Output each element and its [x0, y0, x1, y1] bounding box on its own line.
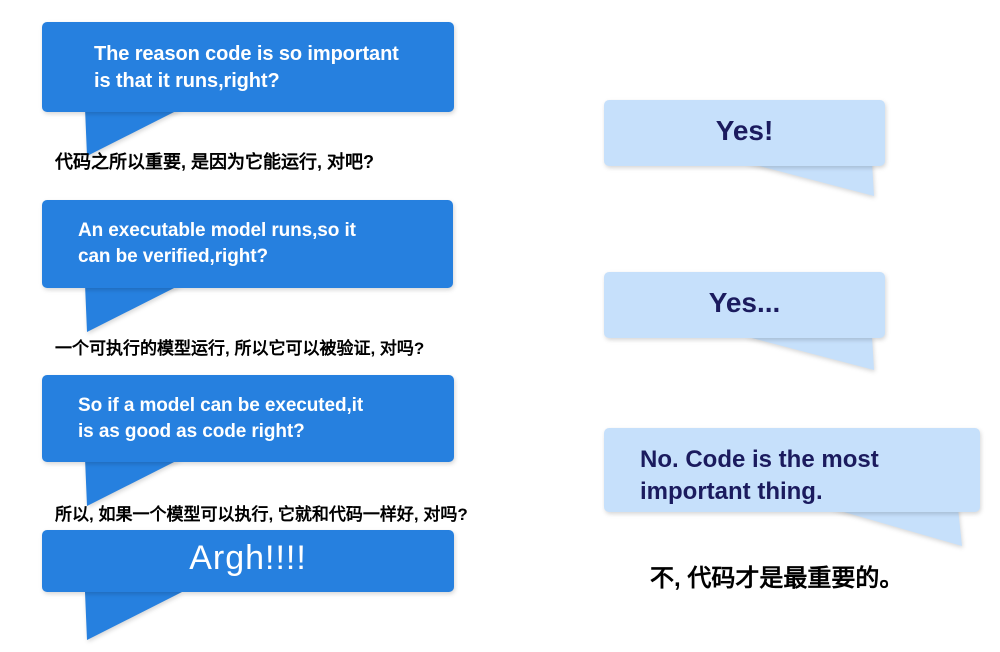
answer-bubble-3[interactable]: No. Code is the most important thing. [604, 428, 980, 512]
question-caption-3: 所以, 如果一个模型可以执行, 它就和代码一样好, 对吗? [55, 500, 468, 525]
answer-bubble-1-text: Yes! [604, 112, 885, 150]
answer-bubble-1[interactable]: Yes! [604, 100, 885, 166]
speech-tail-right-1 [704, 162, 904, 222]
question-bubble-2-text: An executable model runs,so it can be ve… [78, 218, 439, 270]
question-bubble-4-text: Argh!!!! [42, 536, 454, 580]
answer-bubble-2[interactable]: Yes... [604, 272, 885, 338]
question-bubble-3[interactable]: So if a model can be executed,it is as g… [42, 375, 454, 462]
question-bubble-3-text: So if a model can be executed,it is as g… [78, 393, 442, 445]
speech-tail-left-4 [42, 592, 222, 652]
answer-bubble-2-text: Yes... [604, 284, 885, 322]
speech-tail-right-2 [704, 336, 904, 396]
answer-caption-3: 不, 代码才是最重要的。 [650, 558, 903, 593]
question-bubble-1-text: The reason code is so important is that … [94, 41, 440, 95]
question-bubble-2[interactable]: An executable model runs,so it can be ve… [42, 200, 453, 288]
question-caption-2: 一个可执行的模型运行, 所以它可以被验证, 对吗? [55, 334, 424, 359]
answer-bubble-3-text: No. Code is the most important thing. [640, 444, 968, 508]
question-bubble-4[interactable]: Argh!!!! [42, 530, 454, 592]
comic-canvas: The reason code is so important is that … [0, 0, 1000, 639]
question-bubble-1[interactable]: The reason code is so important is that … [42, 22, 454, 112]
question-caption-1: 代码之所以重要, 是因为它能运行, 对吧? [55, 148, 374, 174]
